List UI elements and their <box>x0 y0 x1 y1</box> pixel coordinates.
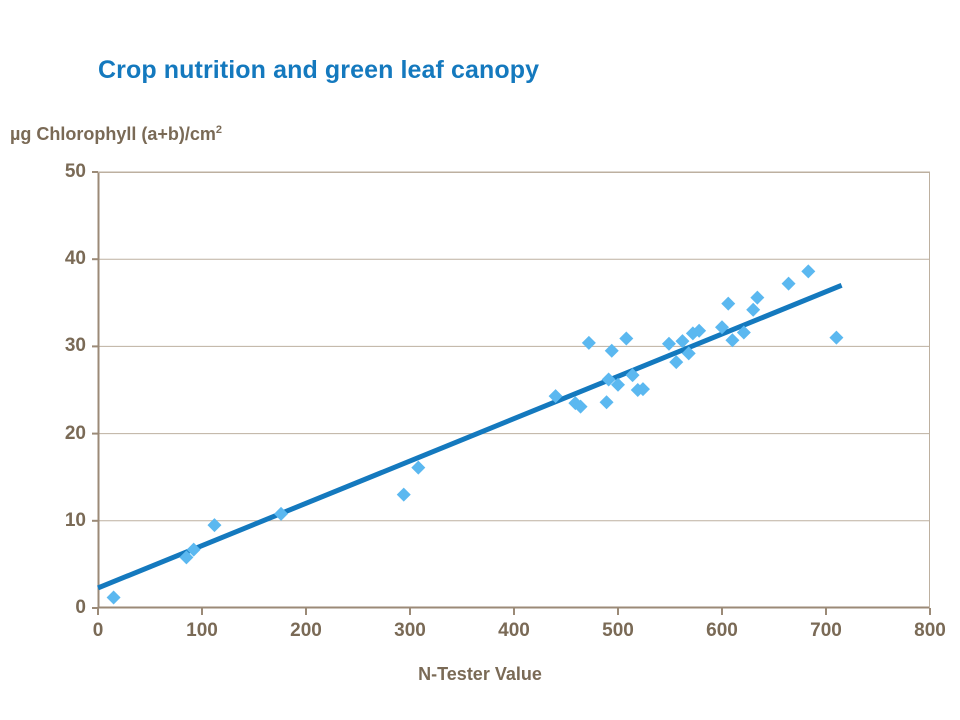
y-tick-label: 20 <box>26 423 86 445</box>
plot-svg <box>98 172 930 608</box>
y-tick-label: 30 <box>26 335 86 357</box>
y-tick-label: 50 <box>26 161 86 183</box>
y-axis-tick-labels: 01020304050 <box>24 172 86 608</box>
y-axis-title-superscript: 2 <box>216 124 222 136</box>
x-axis-tick-labels: 0100200300400500600700800 <box>98 620 930 650</box>
y-tick-label: 10 <box>26 510 86 532</box>
x-tick-label: 600 <box>682 620 762 642</box>
x-tick-label: 700 <box>786 620 866 642</box>
chart-title: Crop nutrition and green leaf canopy <box>98 56 539 85</box>
y-axis-title: µg Chlorophyll (a+b)/cm2 <box>10 124 222 145</box>
x-tick-label: 200 <box>266 620 346 642</box>
x-tick-label: 800 <box>890 620 960 642</box>
chart-container: Crop nutrition and green leaf canopy µg … <box>0 0 960 720</box>
x-tick-label: 100 <box>162 620 242 642</box>
x-tick-label: 300 <box>370 620 450 642</box>
x-tick-label: 0 <box>58 620 138 642</box>
plot-area <box>98 172 930 608</box>
plot-background <box>98 172 930 608</box>
x-tick-label: 400 <box>474 620 554 642</box>
y-axis-title-text: µg Chlorophyll (a+b)/cm <box>10 124 216 144</box>
y-tick-label: 40 <box>26 248 86 270</box>
y-tick-label: 0 <box>26 597 86 619</box>
x-axis-title: N-Tester Value <box>0 664 960 685</box>
x-tick-label: 500 <box>578 620 658 642</box>
